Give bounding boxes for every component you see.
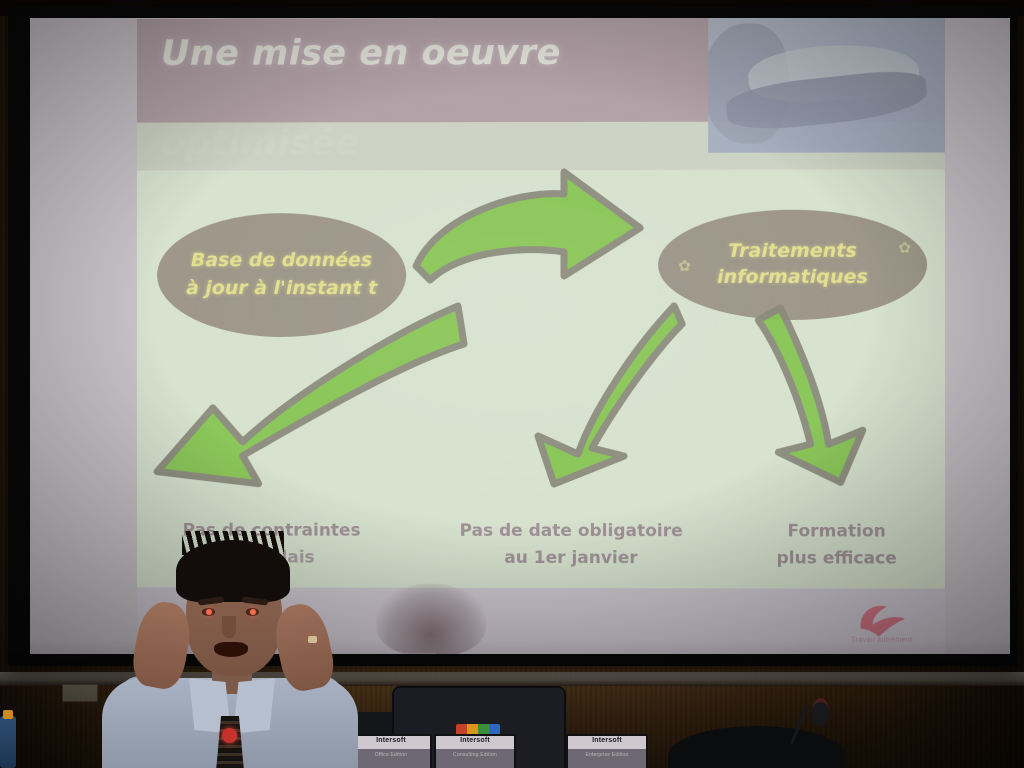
speaker-hair	[176, 540, 290, 602]
slide-logo: Travail autrement	[837, 597, 927, 653]
flower-icon-left: ✿	[678, 256, 691, 276]
name-card: Intersoft Consulting Edition	[434, 734, 516, 768]
caption-date: Pas de date obligatoire au 1er janvier	[436, 518, 706, 573]
caption-formation-line1: Formation	[736, 518, 937, 546]
arrow-to-date-icon	[466, 298, 686, 488]
arrow-db-to-processing-icon	[408, 168, 658, 298]
swoosh-icon	[855, 599, 909, 637]
ellipse-database-line1: Base de données	[191, 248, 372, 276]
flower-icon-right: ✿	[898, 238, 911, 258]
caption-date-line1: Pas de date obligatoire	[436, 518, 706, 546]
speaker	[96, 528, 364, 768]
name-card-name: Consulting Edition	[436, 752, 514, 758]
ellipse-processing-line2: informatiques	[717, 265, 868, 291]
caption-date-line2: au 1er janvier	[436, 545, 706, 573]
wall-plate	[62, 684, 98, 702]
microphone-head	[812, 698, 829, 726]
name-card-brand: Intersoft	[568, 737, 646, 744]
red-eye-glint-left	[206, 609, 212, 615]
nose	[222, 616, 236, 638]
name-card-brand: Intersoft	[436, 737, 514, 744]
arrow-to-formation-icon	[716, 302, 877, 492]
name-card-name: Enterprise Edition	[568, 752, 646, 758]
mouth	[214, 642, 248, 657]
name-card: Intersoft Enterprise Edition	[566, 734, 648, 768]
red-eye-glint-right	[250, 609, 256, 615]
caption-formation: Formation plus efficace	[736, 518, 937, 573]
slide-header-photo	[708, 18, 945, 153]
head-shadow	[376, 584, 486, 654]
finger-ring	[308, 636, 317, 643]
tie-pin	[222, 728, 237, 743]
slide-logo-caption: Travail autrement	[837, 637, 927, 644]
slide-title-line2: optimisée	[161, 126, 590, 162]
slide-title-line1: Une mise en oeuvre	[161, 36, 590, 72]
water-bottle	[0, 716, 16, 768]
caption-formation-line2: plus efficace	[736, 545, 937, 573]
ellipse-processing-line1: Traitements	[728, 239, 857, 265]
water-bottle-cap	[3, 710, 13, 719]
photograph: Une mise en oeuvre optimisée Base de don…	[0, 0, 1024, 768]
arrow-to-contraintes-icon	[147, 296, 466, 496]
